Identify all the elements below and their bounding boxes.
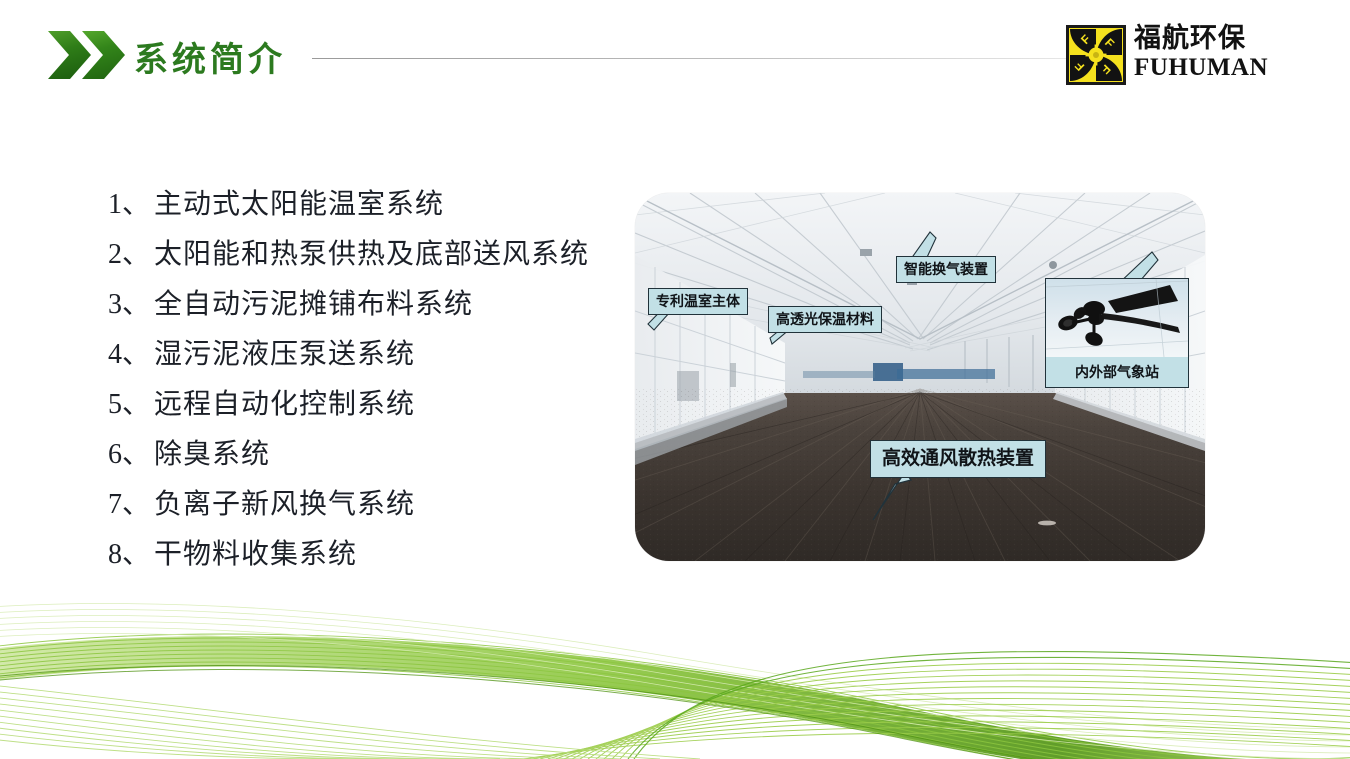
list-item-label: 远程自动化控制系统 [154, 382, 415, 422]
list-item-number: 6、 [108, 432, 154, 472]
list-item: 5、 远程自动化控制系统 [108, 382, 628, 432]
callout-high-transmittance-insulation-material: 高透光保温材料 [768, 306, 882, 333]
list-item-number: 3、 [108, 282, 154, 322]
list-item-number: 5、 [108, 382, 154, 422]
list-item-label: 负离子新风换气系统 [154, 482, 415, 522]
list-item: 7、 负离子新风换气系统 [108, 482, 628, 532]
list-item-number: 7、 [108, 482, 154, 522]
list-item: 2、 太阳能和热泵供热及底部送风系统 [108, 232, 628, 282]
list-item-number: 2、 [108, 232, 154, 272]
logo-name-cn: 福航环保 [1134, 22, 1276, 54]
header-divider [312, 58, 1067, 59]
double-chevron-right-icon [46, 28, 128, 82]
list-item-label: 全自动污泥摊铺布料系统 [154, 282, 473, 322]
list-item-number: 1、 [108, 182, 154, 222]
anemometer-wind-vane-photo [1046, 279, 1188, 357]
slide-header: 系统简介 F F F F [0, 0, 1350, 110]
callout-tail-3 [865, 470, 935, 526]
list-item-label: 湿污泥液压泵送系统 [154, 332, 415, 372]
list-item-label: 除臭系统 [154, 432, 270, 472]
list-item-label: 干物料收集系统 [154, 532, 357, 572]
weather-station-inset: 内外部气象站 [1045, 278, 1189, 388]
company-logo: F F F F 福航环保 [1066, 22, 1276, 90]
list-item: 8、 干物料收集系统 [108, 532, 628, 582]
callout-high-efficiency-ventilation-cooling-device: 高效通风散热装置 [870, 440, 1046, 478]
system-feature-list: 1、 主动式太阳能温室系统 2、 太阳能和热泵供热及底部送风系统 3、 全自动污… [108, 182, 628, 582]
list-item-number: 4、 [108, 332, 154, 372]
list-item: 6、 除臭系统 [108, 432, 628, 482]
page-title: 系统简介 [134, 32, 286, 81]
callout-smart-ventilation-device: 智能换气装置 [896, 256, 996, 283]
list-item-label: 主动式太阳能温室系统 [154, 182, 444, 222]
list-item: 4、 湿污泥液压泵送系统 [108, 332, 628, 382]
logo-name-en: FUHUMAN [1134, 54, 1276, 82]
callout-patented-greenhouse-body: 专利温室主体 [648, 288, 748, 315]
fuhuman-pinwheel-logo-icon: F F F F [1066, 25, 1126, 85]
list-item: 1、 主动式太阳能温室系统 [108, 182, 628, 232]
slide-canvas: 系统简介 F F F F [0, 0, 1350, 759]
logo-wordmark: 福航环保 FUHUMAN [1134, 22, 1276, 82]
list-item-number: 8、 [108, 532, 154, 572]
list-item: 3、 全自动污泥摊铺布料系统 [108, 282, 628, 332]
green-ribbon-wave-decoration [0, 589, 1350, 759]
list-item-label: 太阳能和热泵供热及底部送风系统 [154, 232, 589, 272]
inset-caption: 内外部气象站 [1046, 357, 1188, 387]
